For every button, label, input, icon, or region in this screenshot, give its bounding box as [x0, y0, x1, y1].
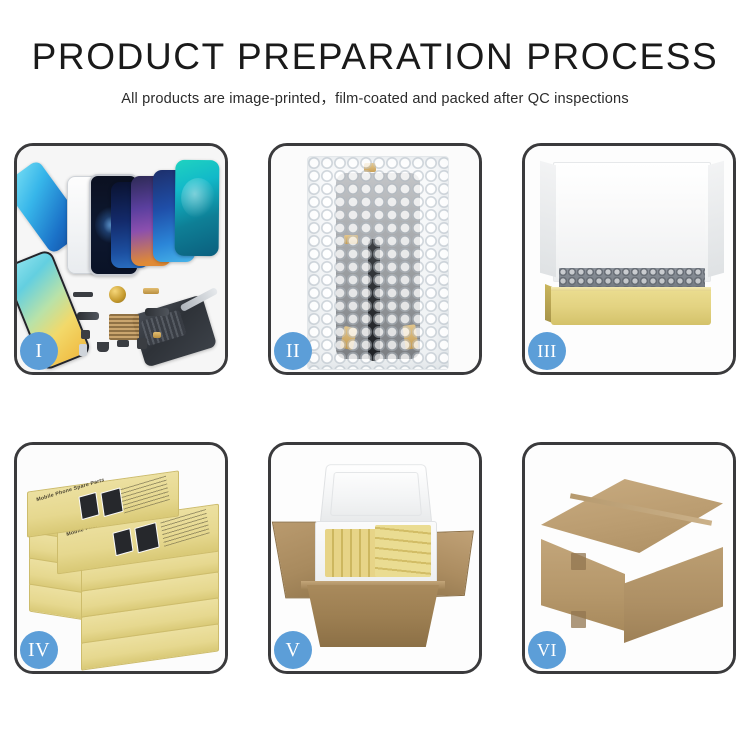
flex-cable-a	[77, 312, 99, 320]
step-badge-2: II	[274, 332, 312, 370]
step-card-1[interactable]: I	[14, 143, 228, 375]
small-part-f	[153, 332, 161, 338]
small-part-a	[73, 292, 93, 297]
step-badge-4: IV	[20, 631, 58, 669]
box-window-c	[78, 492, 99, 520]
small-part-e	[117, 340, 129, 347]
step-card-6[interactable]: VI	[522, 442, 736, 674]
wrapped-cable	[368, 239, 380, 361]
flex-cable-b	[145, 308, 169, 316]
step-badge-3: III	[528, 332, 566, 370]
carton-tape-lower	[571, 611, 586, 628]
step-badge-1: I	[20, 332, 58, 370]
step-card-5[interactable]: V	[268, 442, 482, 674]
carton-tape-upper	[571, 553, 586, 570]
small-part-c	[81, 330, 90, 339]
step-badge-6: VI	[528, 631, 566, 669]
yellow-box-front	[551, 291, 711, 325]
box-window-a	[112, 528, 133, 556]
box-stack: Mobile Phone Spare Parts Mobile Phone Sp…	[23, 463, 223, 659]
chip-grid-part	[109, 314, 139, 340]
carton-body	[307, 585, 439, 647]
header: PRODUCT PREPARATION PROCESS All products…	[0, 38, 750, 108]
tape-mid	[344, 235, 358, 244]
step-card-4[interactable]: Mobile Phone Spare Parts Mobile Phone Sp…	[14, 442, 228, 674]
foam-sheet	[559, 190, 705, 268]
small-part-b	[143, 288, 159, 294]
phone-fan-1	[175, 160, 220, 256]
phone-back-housing	[131, 294, 218, 367]
box-window-b	[134, 522, 159, 553]
product-preparation-infographic: PRODUCT PREPARATION PROCESS All products…	[0, 0, 750, 750]
speaker-part	[97, 342, 109, 352]
styrofoam-lid	[320, 464, 433, 525]
vibration-motor-part	[109, 286, 126, 303]
process-steps-grid: I II	[14, 143, 736, 674]
page-subtitle: All products are image-printed，film-coat…	[0, 87, 750, 108]
carton-top-face	[541, 479, 723, 553]
carton-right-face	[624, 547, 723, 643]
step-badge-5: V	[274, 631, 312, 669]
small-part-d	[79, 344, 87, 356]
step-card-3[interactable]: III	[522, 143, 736, 375]
page-title: PRODUCT PREPARATION PROCESS	[0, 38, 750, 77]
step-card-2[interactable]: II	[268, 143, 482, 375]
tape-top	[364, 163, 376, 172]
bubble-wrap-bag	[307, 156, 449, 370]
box-text-block-upper	[120, 475, 170, 514]
yellow-boxes-contents-right	[375, 525, 431, 577]
camera-part	[137, 338, 147, 349]
